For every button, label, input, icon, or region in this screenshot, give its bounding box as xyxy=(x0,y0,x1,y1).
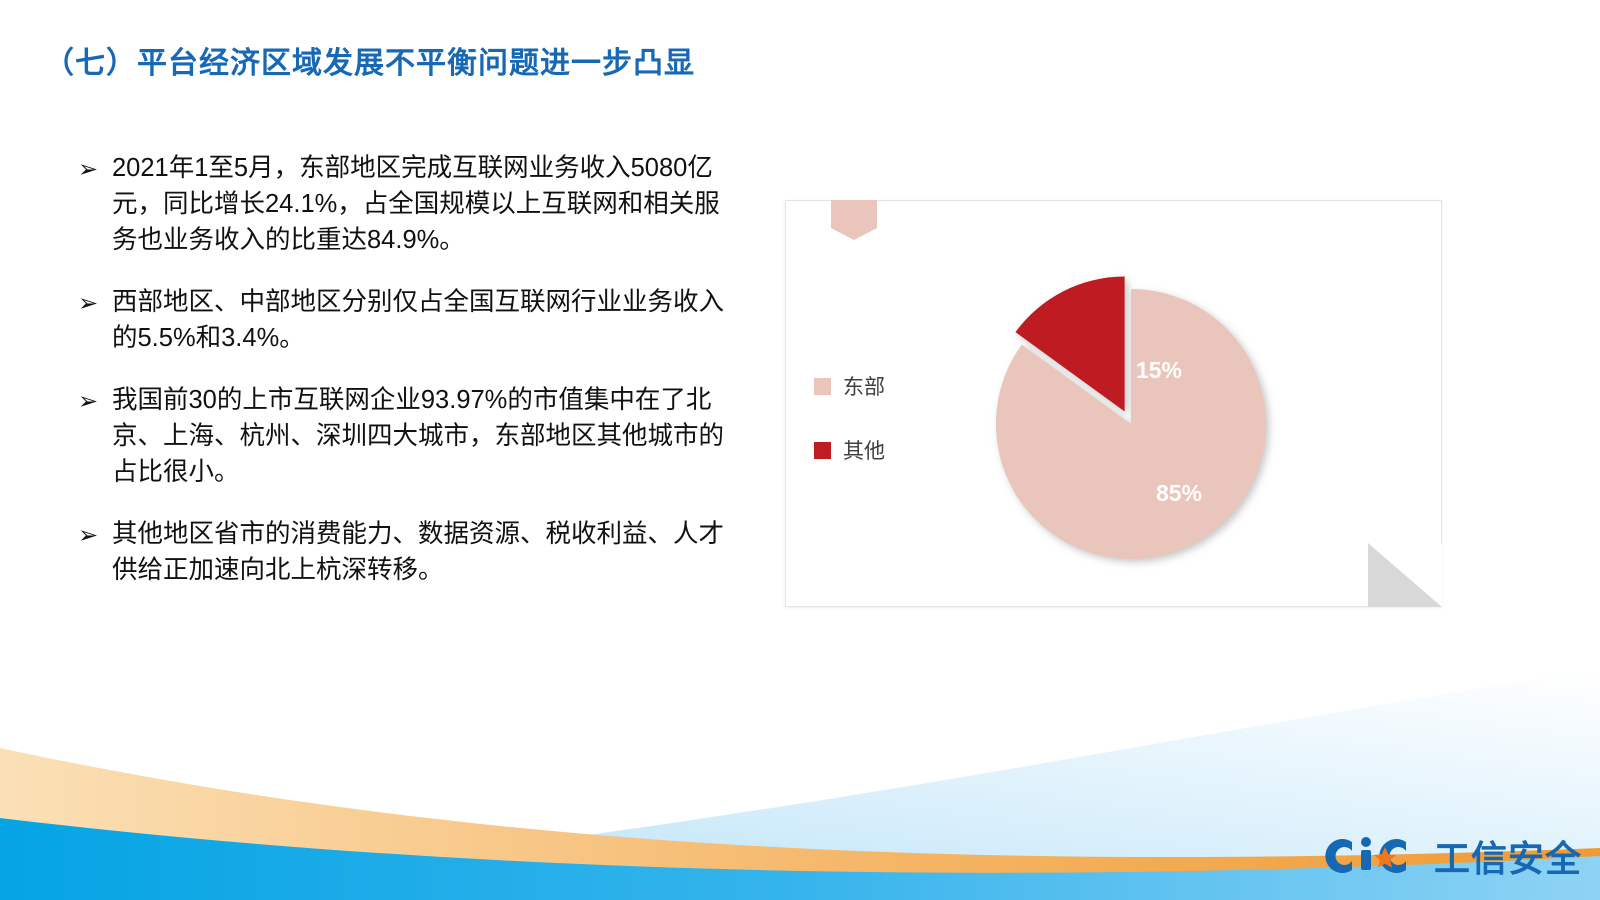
pie-svg: 15% 85% xyxy=(966,256,1296,586)
bullet-arrow-icon: ➢ xyxy=(78,516,112,553)
page-title: （七）平台经济区域发展不平衡问题进一步凸显 xyxy=(44,38,695,82)
list-item-text: 西部地区、中部地区分别仅占全国互联网行业业务收入的5.5%和3.4%。 xyxy=(112,284,738,356)
pie-label-dongbu: 85% xyxy=(1156,480,1202,506)
cic-logo-icon xyxy=(1322,833,1430,879)
chart-legend: 东部 其他 xyxy=(814,371,885,499)
legend-label: 东部 xyxy=(843,371,885,401)
bullet-arrow-icon: ➢ xyxy=(78,284,112,321)
list-item-text: 我国前30的上市互联网企业93.97%的市值集中在了北京、上海、杭州、深圳四大城… xyxy=(112,382,738,490)
list-item-text: 其他地区省市的消费能力、数据资源、税收利益、人才供给正加速向北上杭深转移。 xyxy=(112,516,738,588)
list-item: ➢ 我国前30的上市互联网企业93.97%的市值集中在了北京、上海、杭州、深圳四… xyxy=(78,382,738,490)
cic-mark-svg xyxy=(1322,833,1430,879)
bookmark-ribbon-icon xyxy=(831,200,877,240)
wave-light-blue xyxy=(0,670,1600,900)
brand-name: 工信安全 xyxy=(1434,830,1582,882)
legend-item-dongbu: 东部 xyxy=(814,371,885,401)
legend-item-qita: 其他 xyxy=(814,435,885,465)
legend-swatch-icon xyxy=(814,378,831,395)
footer-waves-svg xyxy=(0,670,1600,900)
wave-blue xyxy=(0,818,1600,900)
chart-card: 东部 其他 15% xyxy=(785,200,1442,607)
pie-label-qita: 15% xyxy=(1136,357,1182,383)
slide-root: （七）平台经济区域发展不平衡问题进一步凸显 ➢ 2021年1至5月，东部地区完成… xyxy=(0,0,1600,900)
footer-decoration: 工信安全 xyxy=(0,670,1600,900)
wave-orange xyxy=(0,748,1600,900)
legend-label: 其他 xyxy=(843,435,885,465)
list-item: ➢ 西部地区、中部地区分别仅占全国互联网行业业务收入的5.5%和3.4%。 xyxy=(78,284,738,356)
pie-chart: 15% 85% xyxy=(966,256,1296,586)
list-item: ➢ 2021年1至5月，东部地区完成互联网业务收入5080亿元，同比增长24.1… xyxy=(78,150,738,258)
bullet-arrow-icon: ➢ xyxy=(78,382,112,419)
bullet-arrow-icon: ➢ xyxy=(78,150,112,187)
bullet-list: ➢ 2021年1至5月，东部地区完成互联网业务收入5080亿元，同比增长24.1… xyxy=(78,150,738,614)
brand-logo: 工信安全 xyxy=(1322,830,1582,882)
list-item-text: 2021年1至5月，东部地区完成互联网业务收入5080亿元，同比增长24.1%，… xyxy=(112,150,738,258)
page-fold-corner-icon xyxy=(1362,537,1442,607)
legend-swatch-icon xyxy=(814,442,831,459)
list-item: ➢ 其他地区省市的消费能力、数据资源、税收利益、人才供给正加速向北上杭深转移。 xyxy=(78,516,738,588)
